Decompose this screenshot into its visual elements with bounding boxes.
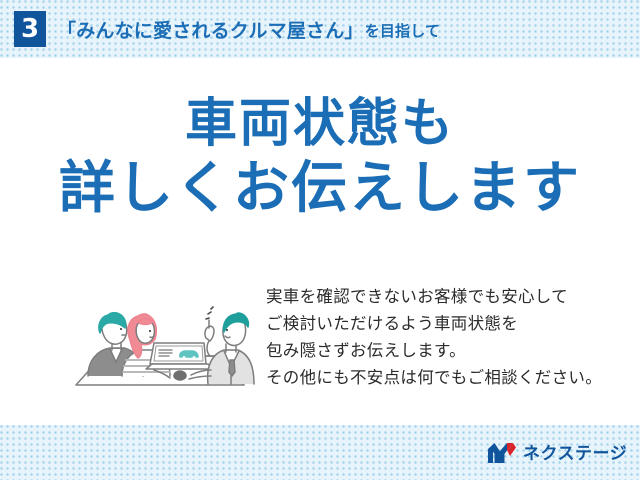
brand-logo: ネクステージ bbox=[487, 440, 627, 466]
body-text-line-4: その他にも不安点は何でもご相談ください。 bbox=[266, 365, 616, 392]
advertisement-page: 3 「みんなに愛されるクルマ屋さん」 を目指して 車両状態も 詳しくお伝えします bbox=[0, 0, 640, 480]
step-number-badge: 3 bbox=[14, 11, 46, 47]
consultation-illustration bbox=[58, 272, 258, 398]
headline-line-2: 詳しくお伝えします bbox=[0, 157, 640, 220]
body-text-block: 実車を確認できないお客様でも安心して ご検討いただけるよう車両状態を 包み隠さず… bbox=[266, 284, 616, 392]
body-text-line-1: 実車を確認できないお客様でも安心して bbox=[266, 284, 616, 311]
header-title-suffix: を目指して bbox=[364, 17, 441, 41]
nextage-n-mark-icon bbox=[487, 442, 517, 464]
headline-line-1: 車両状態も bbox=[0, 95, 640, 153]
body-text-line-3: 包み隠さずお伝えします。 bbox=[266, 338, 616, 365]
brand-name: ネクステージ bbox=[523, 445, 627, 462]
main-headline: 車両状態も 詳しくお伝えします bbox=[0, 95, 640, 220]
header-title: 「みんなに愛されるクルマ屋さん」 を目指して bbox=[57, 13, 440, 45]
body-text-line-2: ご検討いただけるよう車両状態を bbox=[266, 311, 616, 338]
header-title-main: 「みんなに愛されるクルマ屋さん」 bbox=[57, 16, 364, 43]
